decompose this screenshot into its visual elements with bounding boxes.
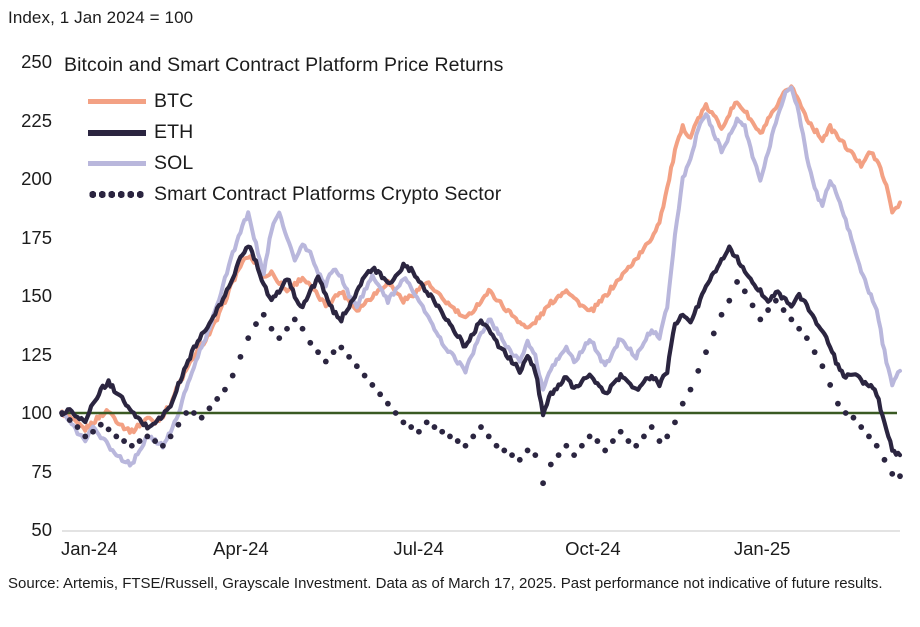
chart-page: Index, 1 Jan 2024 = 100 Bitcoin and Smar…: [0, 0, 920, 627]
x-tick-label: Jan-24: [61, 538, 118, 560]
y-tick-label: 150: [0, 285, 52, 307]
x-axis-line: [62, 530, 900, 532]
series-smart-contract-platforms-crypto-sector: [59, 279, 903, 486]
y-tick-label: 100: [0, 402, 52, 424]
plot-area: [62, 62, 900, 530]
y-tick-label: 125: [0, 344, 52, 366]
y-tick-label: 225: [0, 110, 52, 132]
series-sol: [62, 88, 900, 466]
x-tick-label: Apr-24: [213, 538, 269, 560]
source-note: Source: Artemis, FTSE/Russell, Grayscale…: [8, 573, 908, 595]
y-tick-label: 250: [0, 51, 52, 73]
y-tick-label: 175: [0, 227, 52, 249]
y-tick-label: 75: [0, 461, 52, 483]
x-tick-label: Jul-24: [393, 538, 443, 560]
y-tick-label: 50: [0, 519, 52, 541]
series-eth: [62, 247, 900, 456]
series-canvas: [62, 62, 900, 530]
x-tick-label: Oct-24: [565, 538, 621, 560]
index-subtitle: Index, 1 Jan 2024 = 100: [8, 8, 193, 28]
x-tick-label: Jan-25: [734, 538, 791, 560]
y-tick-label: 200: [0, 168, 52, 190]
